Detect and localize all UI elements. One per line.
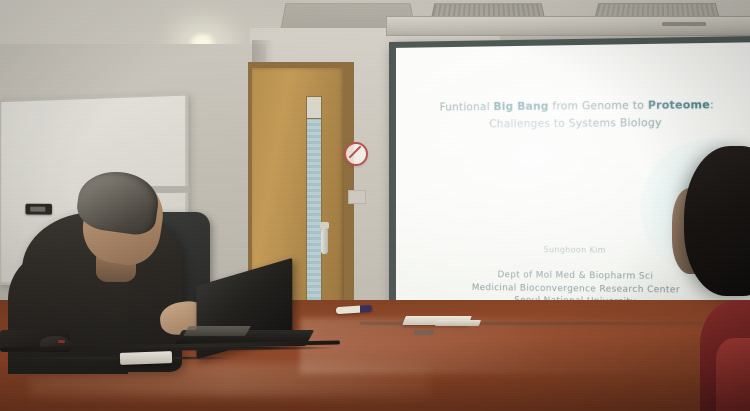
foreground-person-garment	[716, 338, 750, 411]
door-glass-top	[306, 96, 322, 120]
projection-screen-housing	[386, 16, 750, 36]
whiteboard-eraser-icon	[25, 204, 52, 215]
eraser-label	[30, 207, 45, 212]
no-smoking-bar	[349, 146, 362, 159]
light-switch-icon[interactable]	[348, 190, 366, 204]
white-device[interactable]	[120, 351, 172, 365]
laptop-keyboard[interactable]	[183, 326, 251, 336]
no-smoking-sign-icon	[344, 142, 368, 166]
housing-brand-label	[662, 22, 706, 26]
photo-scene: Funtional Big Bang from Genome to Proteo…	[0, 0, 750, 411]
slide-title-prefix: Funtional	[440, 101, 494, 114]
slide-title-bold-proteome: Proteome	[648, 99, 710, 112]
slide-title-bold-big-bang: Big Bang	[493, 100, 548, 113]
paper-stack-secondary[interactable]	[435, 320, 481, 326]
small-table-item[interactable]	[414, 330, 434, 335]
slide-title: Funtional Big Bang from Genome to Proteo…	[396, 96, 750, 133]
slide-title-mid: from Genome to	[549, 100, 648, 113]
slide-subtitle: Challenges to Systems Biology	[396, 114, 750, 133]
slide-title-suffix: :	[710, 99, 714, 111]
door-handle-icon[interactable]	[321, 228, 328, 254]
